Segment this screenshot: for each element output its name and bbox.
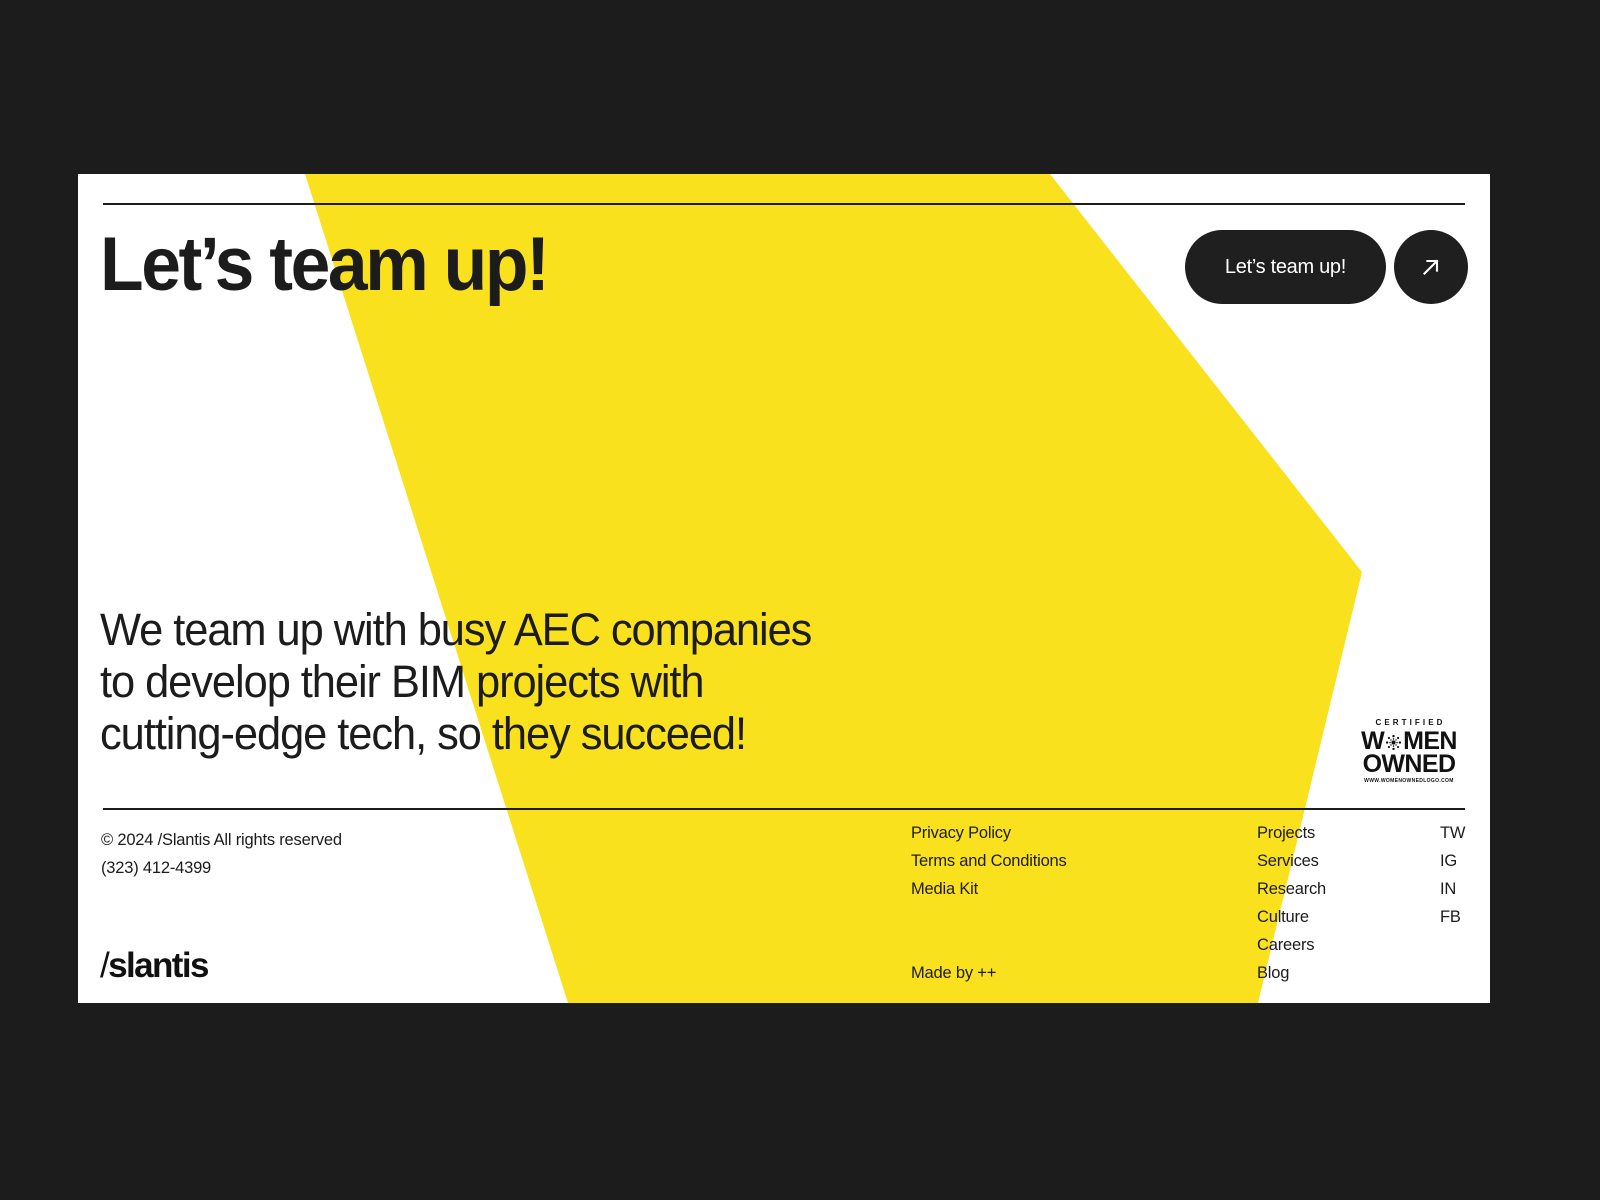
logo-wordmark: slantis <box>108 946 208 985</box>
social-link-twitter[interactable]: TW <box>1440 824 1465 842</box>
footer-divider <box>103 808 1465 810</box>
footer-link-media-kit[interactable]: Media Kit <box>911 880 1067 898</box>
footer-link-culture[interactable]: Culture <box>1257 908 1326 926</box>
footer-card: Let’s team up! Let’s team up! We team up… <box>78 174 1490 1003</box>
badge-certified-label: CERTIFIED <box>1356 719 1465 727</box>
footer-link-careers[interactable]: Careers <box>1257 936 1326 954</box>
social-link-linkedin[interactable]: IN <box>1440 880 1465 898</box>
footer-link-projects[interactable]: Projects <box>1257 824 1326 842</box>
lets-team-up-button[interactable]: Let’s team up! <box>1185 230 1386 304</box>
footer-legal-info: © 2024 /Slantis All rights reserved (323… <box>101 826 342 882</box>
footer-link-services[interactable]: Services <box>1257 852 1326 870</box>
footer-link-terms-and-conditions[interactable]: Terms and Conditions <box>911 852 1067 870</box>
certified-women-owned-badge: CERTIFIED W <box>1353 719 1465 784</box>
arrow-up-right-icon <box>1418 254 1444 280</box>
social-link-facebook[interactable]: FB <box>1440 908 1465 926</box>
made-by-credit[interactable]: Made by ++ <box>911 964 996 983</box>
starburst-icon <box>1384 733 1403 752</box>
phone-number[interactable]: (323) 412-4399 <box>101 854 342 882</box>
footer-link-blog[interactable]: Blog <box>1257 964 1326 982</box>
cta-group: Let’s team up! <box>1185 230 1468 304</box>
logo-slash: / <box>100 946 108 985</box>
copyright-text: © 2024 /Slantis All rights reserved <box>101 826 342 854</box>
badge-owned-line: OWNED <box>1353 753 1465 776</box>
social-link-instagram[interactable]: IG <box>1440 852 1465 870</box>
lead-paragraph: We team up with busy AEC companies to de… <box>100 604 811 760</box>
footer-link-research[interactable]: Research <box>1257 880 1326 898</box>
footer-legal-links: Privacy Policy Terms and Conditions Medi… <box>911 824 1067 898</box>
page-title: Let’s team up! <box>100 222 547 308</box>
arrow-up-right-button[interactable] <box>1394 230 1468 304</box>
badge-url: WWW.WOMENOWNEDLOGO.COM <box>1353 779 1465 784</box>
footer-social-links: TW IG IN FB <box>1440 824 1465 926</box>
slantis-logo[interactable]: /slantis <box>100 946 208 986</box>
footer-link-privacy-policy[interactable]: Privacy Policy <box>911 824 1067 842</box>
footer-site-links: Projects Services Research Culture Caree… <box>1257 824 1326 982</box>
top-divider <box>103 203 1465 205</box>
